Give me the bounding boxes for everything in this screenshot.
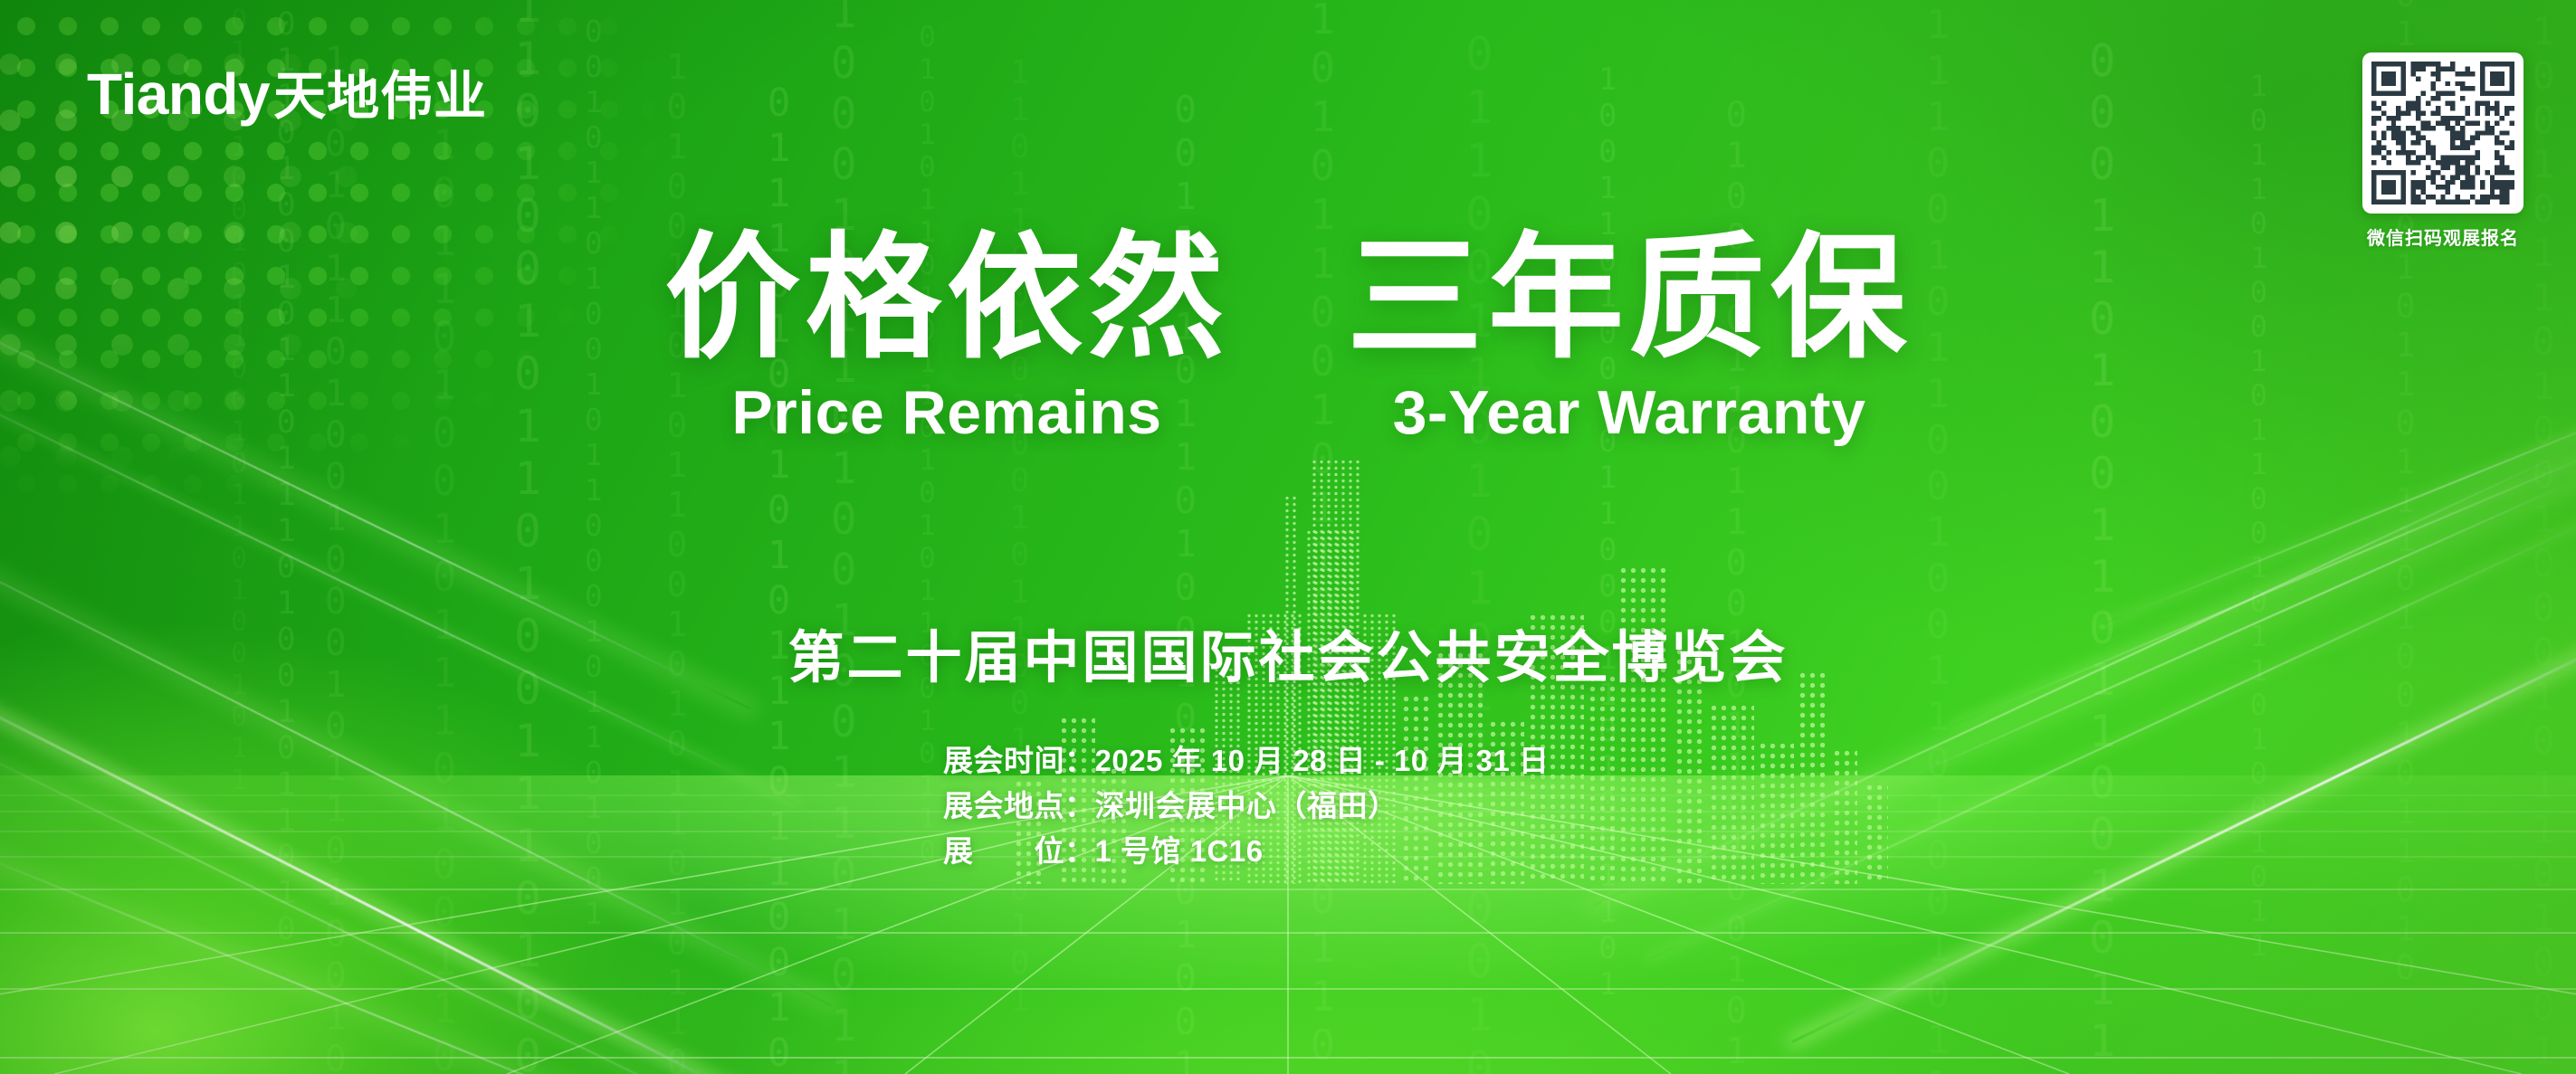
qr-code-icon[interactable] bbox=[2362, 52, 2524, 214]
headline-left-english: Price Remains bbox=[664, 379, 1229, 447]
expo-info-booth: 展 位：1 号馆 1C16 bbox=[943, 829, 1549, 874]
expo-title: 第二十届中国国际社会公共安全博览会 bbox=[0, 612, 2576, 693]
qr-registration-block[interactable]: 微信扫码观展报名 bbox=[2357, 52, 2529, 250]
expo-info-date: 展会时间：2025 年 10 月 28 日 - 10 月 31 日 bbox=[943, 738, 1549, 784]
promo-banner: 1011010010110010110100101101101001011011… bbox=[0, 0, 2576, 1074]
qr-code-matrix bbox=[2371, 62, 2514, 204]
logo-text-english: Tiandy bbox=[87, 65, 270, 123]
headline-right-chinese: 三年质保 bbox=[1347, 226, 1912, 370]
headline-left: 价格依然 Price Remains bbox=[664, 226, 1229, 447]
headline-group: 价格依然 Price Remains 三年质保 3-Year Warranty bbox=[0, 226, 2576, 447]
headline-left-chinese: 价格依然 bbox=[664, 226, 1229, 370]
expo-info-block: 展会时间：2025 年 10 月 28 日 - 10 月 31 日 展会地点：深… bbox=[943, 738, 1549, 874]
logo-text-chinese: 天地伟业 bbox=[273, 71, 487, 123]
tiandy-logo[interactable]: Tiandy 天地伟业 bbox=[87, 65, 487, 123]
expo-info-venue: 展会地点：深圳会展中心（福田） bbox=[943, 784, 1549, 829]
headline-right: 三年质保 3-Year Warranty bbox=[1347, 226, 1912, 447]
headline-right-english: 3-Year Warranty bbox=[1347, 379, 1912, 447]
qr-caption: 微信扫码观展报名 bbox=[2357, 223, 2529, 250]
